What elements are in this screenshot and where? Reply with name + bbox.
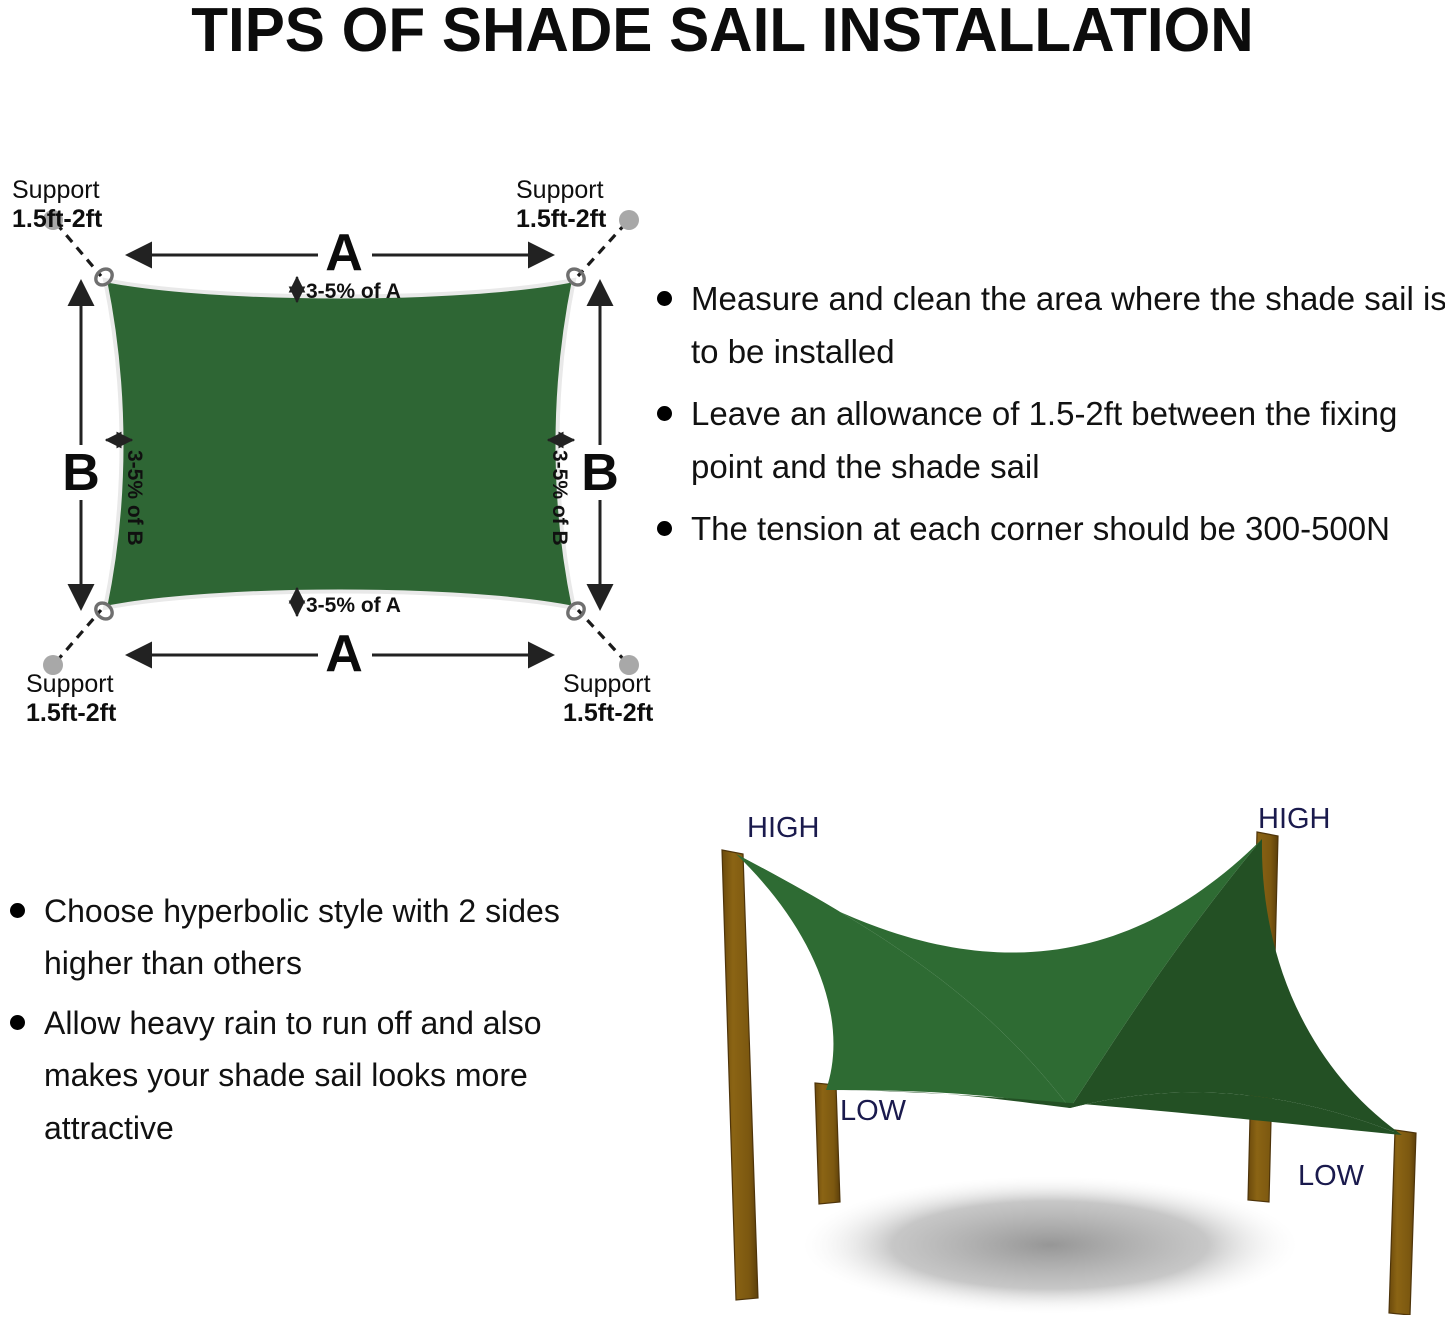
list-item: Allow heavy rain to run off and also mak… xyxy=(0,997,625,1153)
support-label-top-left-line2: 1.5ft-2ft xyxy=(12,205,103,233)
list-item: Measure and clean the area where the sha… xyxy=(645,272,1445,379)
dimension-a-bottom: A xyxy=(128,625,552,683)
support-label-bottom-right-line1: Support xyxy=(563,670,651,698)
tether-bottom-right xyxy=(578,610,626,662)
support-label-top-left: Support 1.5ft-2ft xyxy=(12,176,103,233)
support-label-bottom-left-line1: Support xyxy=(26,670,114,698)
support-label-bottom-right-line2: 1.5ft-2ft xyxy=(563,699,654,727)
curvature-label-top: 3-5% of A xyxy=(306,280,401,303)
bullet-dot-icon xyxy=(657,521,672,536)
tip-text: Leave an allowance of 1.5-2ft between th… xyxy=(691,395,1397,485)
label-high-right: HIGH xyxy=(1258,803,1331,835)
post-low-right xyxy=(1389,1130,1416,1315)
post-low-left xyxy=(815,1083,840,1204)
dim-label-a-bottom: A xyxy=(325,625,363,683)
label-high-left: HIGH xyxy=(747,812,820,844)
bullet-dot-icon xyxy=(657,291,672,306)
bullet-dot-icon xyxy=(10,903,25,918)
tip-text: Allow heavy rain to run off and also mak… xyxy=(44,1005,541,1145)
dimension-b-left: B xyxy=(62,282,100,608)
bullet-dot-icon xyxy=(657,406,672,421)
label-low-left: LOW xyxy=(840,1095,907,1127)
bullet-dot-icon xyxy=(10,1015,25,1030)
curvature-top: 3-5% of A xyxy=(297,277,401,303)
infographic-page: TIPS OF SHADE SAIL INSTALLATION xyxy=(0,0,1445,1319)
support-label-top-left-line1: Support xyxy=(12,176,100,204)
curvature-left: 3-5% of B xyxy=(106,440,146,546)
tip-text: Choose hyperbolic style with 2 sides hig… xyxy=(44,893,560,981)
support-label-top-right: Support 1.5ft-2ft xyxy=(516,176,607,233)
support-label-bottom-left-line2: 1.5ft-2ft xyxy=(26,699,117,727)
ground-shadow xyxy=(805,1177,1295,1313)
dim-label-a-top: A xyxy=(325,224,363,282)
curvature-label-bottom: 3-5% of A xyxy=(306,594,401,617)
tip-text: Measure and clean the area where the sha… xyxy=(691,280,1445,370)
rectangular-sail-diagram: A 3-5% of A A 3-5% of A B xyxy=(0,150,680,730)
curvature-label-left: 3-5% of B xyxy=(123,450,146,546)
page-title: TIPS OF SHADE SAIL INSTALLATION xyxy=(22,0,1424,63)
dimension-a-top: A xyxy=(128,224,552,282)
curvature-label-right: 3-5% of B xyxy=(548,450,571,546)
hyperbolic-sail-illustration: HIGH HIGH LOW LOW xyxy=(650,790,1445,1315)
dimension-b-right: B xyxy=(581,282,619,608)
list-item: The tension at each corner should be 300… xyxy=(645,502,1445,555)
support-label-top-right-line1: Support xyxy=(516,176,604,204)
tip-text: The tension at each corner should be 300… xyxy=(691,510,1390,547)
support-label-bottom-right: Support 1.5ft-2ft xyxy=(563,670,654,727)
dim-label-b-right: B xyxy=(581,444,619,502)
label-low-right: LOW xyxy=(1298,1160,1365,1192)
post-far-left xyxy=(722,850,758,1300)
tether-bottom-left xyxy=(56,610,101,662)
shade-sail-shape xyxy=(105,280,574,608)
top-tips-list: Measure and clean the area where the sha… xyxy=(645,272,1445,563)
list-item: Leave an allowance of 1.5-2ft between th… xyxy=(645,387,1445,494)
curvature-right: 3-5% of B xyxy=(548,440,574,546)
support-label-top-right-line2: 1.5ft-2ft xyxy=(516,205,607,233)
support-label-bottom-left: Support 1.5ft-2ft xyxy=(26,670,117,727)
list-item: Choose hyperbolic style with 2 sides hig… xyxy=(0,885,625,989)
dim-label-b-left: B xyxy=(62,444,100,502)
bottom-tips-list: Choose hyperbolic style with 2 sides hig… xyxy=(0,885,625,1162)
anchor-dot-top-right xyxy=(619,210,639,230)
